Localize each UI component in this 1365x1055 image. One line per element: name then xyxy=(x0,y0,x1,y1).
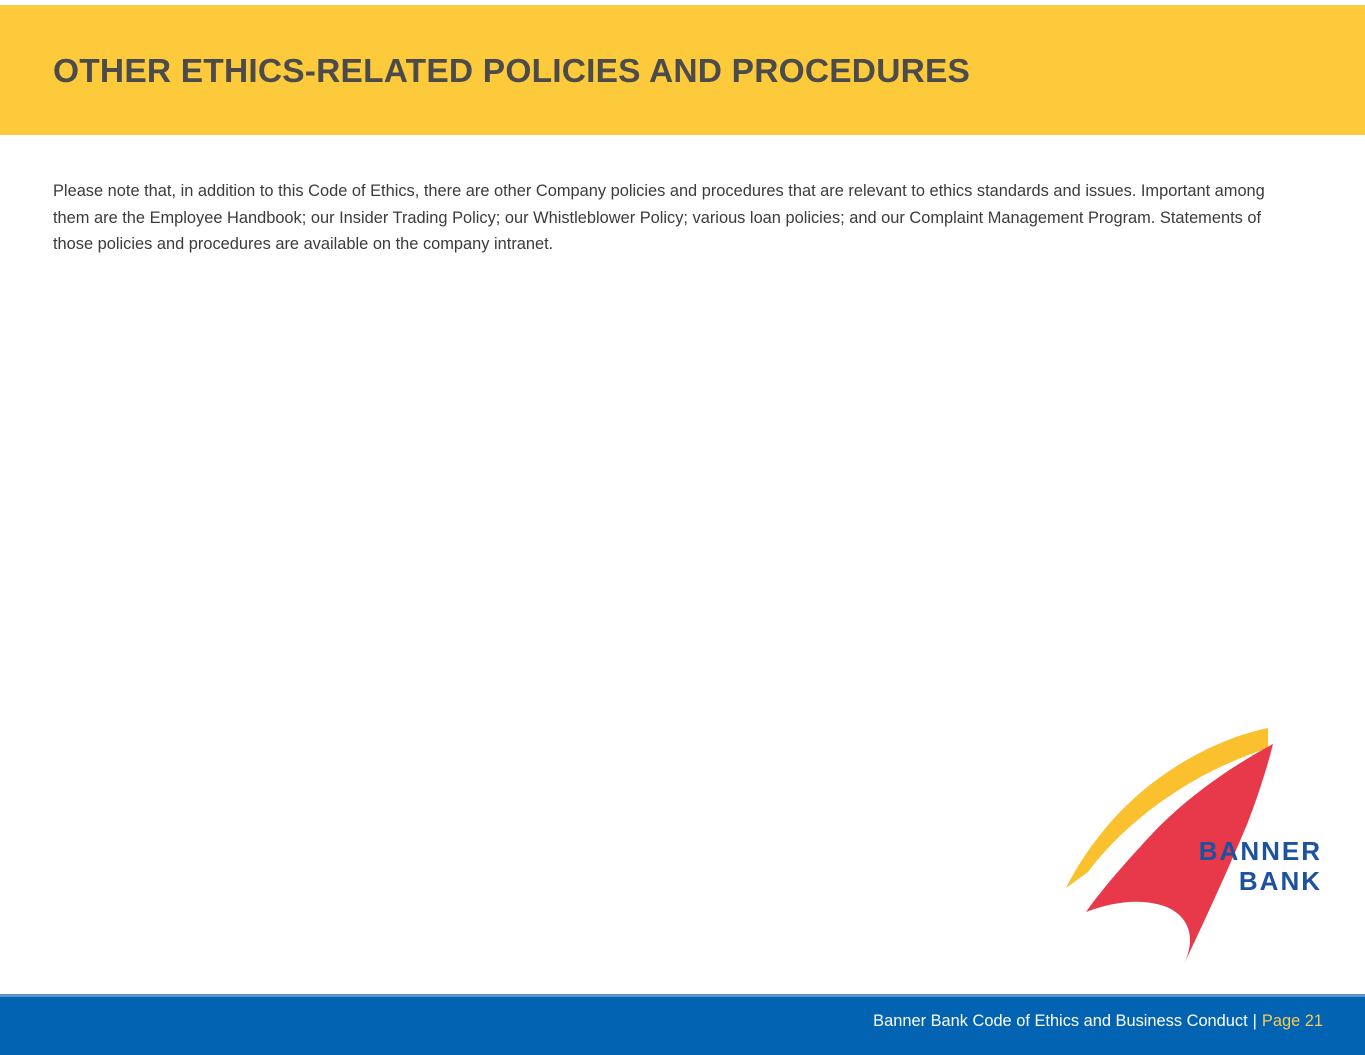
footer: Banner Bank Code of Ethics and Business … xyxy=(873,1012,1323,1031)
logo-wordmark-line-2: BANK xyxy=(1148,866,1322,896)
logo-wordmark: BANNER BANK xyxy=(1148,836,1322,896)
banner-bank-logo: BANNER BANK xyxy=(1060,726,1322,966)
document-page: OTHER ETHICS-RELATED POLICIES AND PROCED… xyxy=(0,0,1365,1055)
footer-document-title: Banner Bank Code of Ethics and Business … xyxy=(873,1012,1247,1030)
header-band: OTHER ETHICS-RELATED POLICIES AND PROCED… xyxy=(0,5,1365,135)
body-paragraph: Please note that, in addition to this Co… xyxy=(53,178,1293,258)
footer-separator: | xyxy=(1248,1012,1262,1030)
logo-wordmark-line-1: BANNER xyxy=(1148,836,1322,866)
page-title: OTHER ETHICS-RELATED POLICIES AND PROCED… xyxy=(53,53,970,91)
page-number: Page 21 xyxy=(1262,1012,1323,1030)
